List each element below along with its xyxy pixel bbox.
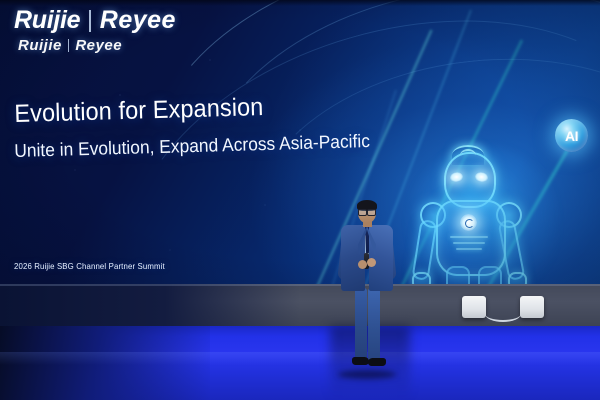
- speaker-hand-right: [367, 258, 376, 267]
- stage-riser-edge: [0, 284, 600, 286]
- event-title-text: 2026 Ruijie SBG Channel Partner Summit: [14, 261, 165, 271]
- brand-divider-icon: [89, 10, 91, 32]
- eyeglasses-icon: [358, 209, 376, 214]
- monitor-cable: [485, 306, 521, 322]
- led-backdrop-screen: Ruijie Reyee Ruijie Reyee Evolution for …: [0, 0, 600, 292]
- speaker-jacket-left: [341, 225, 365, 291]
- stage-riser-shadow: [0, 284, 300, 328]
- brand-logo-primary: Ruijie Reyee: [14, 8, 176, 33]
- brand-divider-icon-small: [68, 39, 70, 52]
- brand-name-reyee: Reyee: [100, 8, 176, 33]
- speaker-leg-right: [368, 288, 380, 360]
- ai-badge-icon: AI: [555, 119, 588, 152]
- speaker-hand-left: [358, 260, 367, 269]
- speaker-shadow: [338, 370, 396, 379]
- ceiling-shadow: [0, 0, 600, 6]
- brand-logo-secondary: Ruijie Reyee: [18, 38, 122, 53]
- stage-monitor-right: [520, 296, 544, 318]
- brand-name-ruijie: Ruijie: [14, 8, 80, 33]
- stage-photo: Ruijie Reyee Ruijie Reyee Evolution for …: [0, 0, 600, 400]
- ai-badge-label: AI: [565, 128, 578, 144]
- brand-name-reyee-small: Reyee: [75, 38, 122, 53]
- speaker-shoe-right: [368, 358, 386, 366]
- keynote-speaker: [334, 198, 400, 378]
- stage-monitor-left: [462, 296, 486, 318]
- stage-floor-highlight: [0, 352, 600, 365]
- brand-name-ruijie-small: Ruijie: [18, 38, 62, 53]
- speaker-shoe-left: [352, 357, 369, 365]
- speaker-leg-left: [355, 288, 367, 360]
